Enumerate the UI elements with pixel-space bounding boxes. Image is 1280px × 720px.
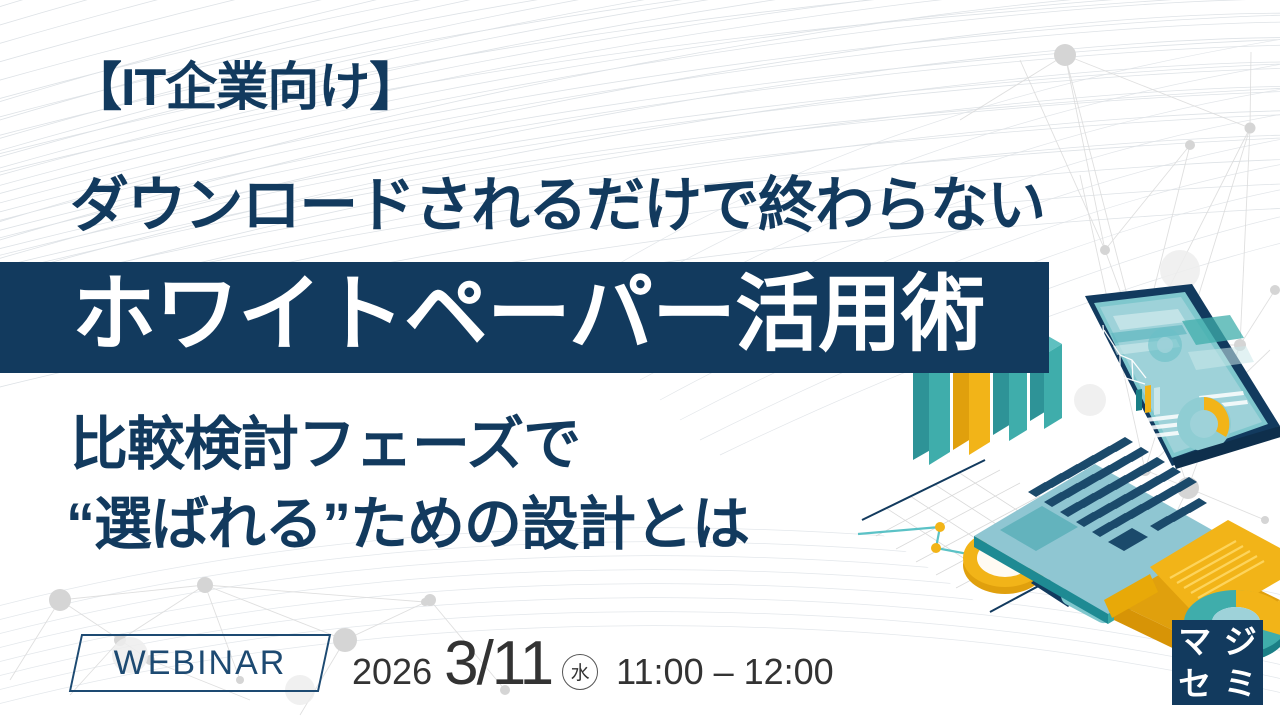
emphasis-title: ホワイトペーパー活用術: [72, 272, 984, 356]
majisemi-logo[interactable]: マ ジ セ ミ: [1172, 620, 1263, 705]
logo-char-2: ジ: [1224, 625, 1257, 658]
kicker-text: 【IT企業向け】: [70, 62, 420, 114]
event-month-day: 3/11: [444, 628, 552, 699]
event-time-range: 11:00 – 12:00: [616, 651, 834, 693]
event-year: 2026: [352, 651, 432, 693]
subtitle-line-1: ダウンロードされるだけで終わらない: [70, 176, 1045, 236]
webinar-banner: 【IT企業向け】 ダウンロードされるだけで終わらない ホワイトペーパー活用術 比…: [0, 0, 1280, 720]
headline-block: 【IT企業向け】 ダウンロードされるだけで終わらない ホワイトペーパー活用術 比…: [0, 0, 1100, 620]
webinar-label: WEBINAR: [75, 634, 325, 692]
logo-char-3: セ: [1178, 667, 1211, 700]
logo-char-4: ミ: [1224, 667, 1257, 700]
event-day-of-week: 水: [562, 654, 598, 690]
subtitle-line-2: 比較検討フェーズで: [70, 416, 580, 474]
event-datetime: 2026 3/11 水 11:00 – 12:00: [352, 628, 834, 698]
subtitle-line-3: “選ばれる”ための設計とは: [66, 496, 749, 554]
logo-char-1: マ: [1178, 625, 1211, 658]
